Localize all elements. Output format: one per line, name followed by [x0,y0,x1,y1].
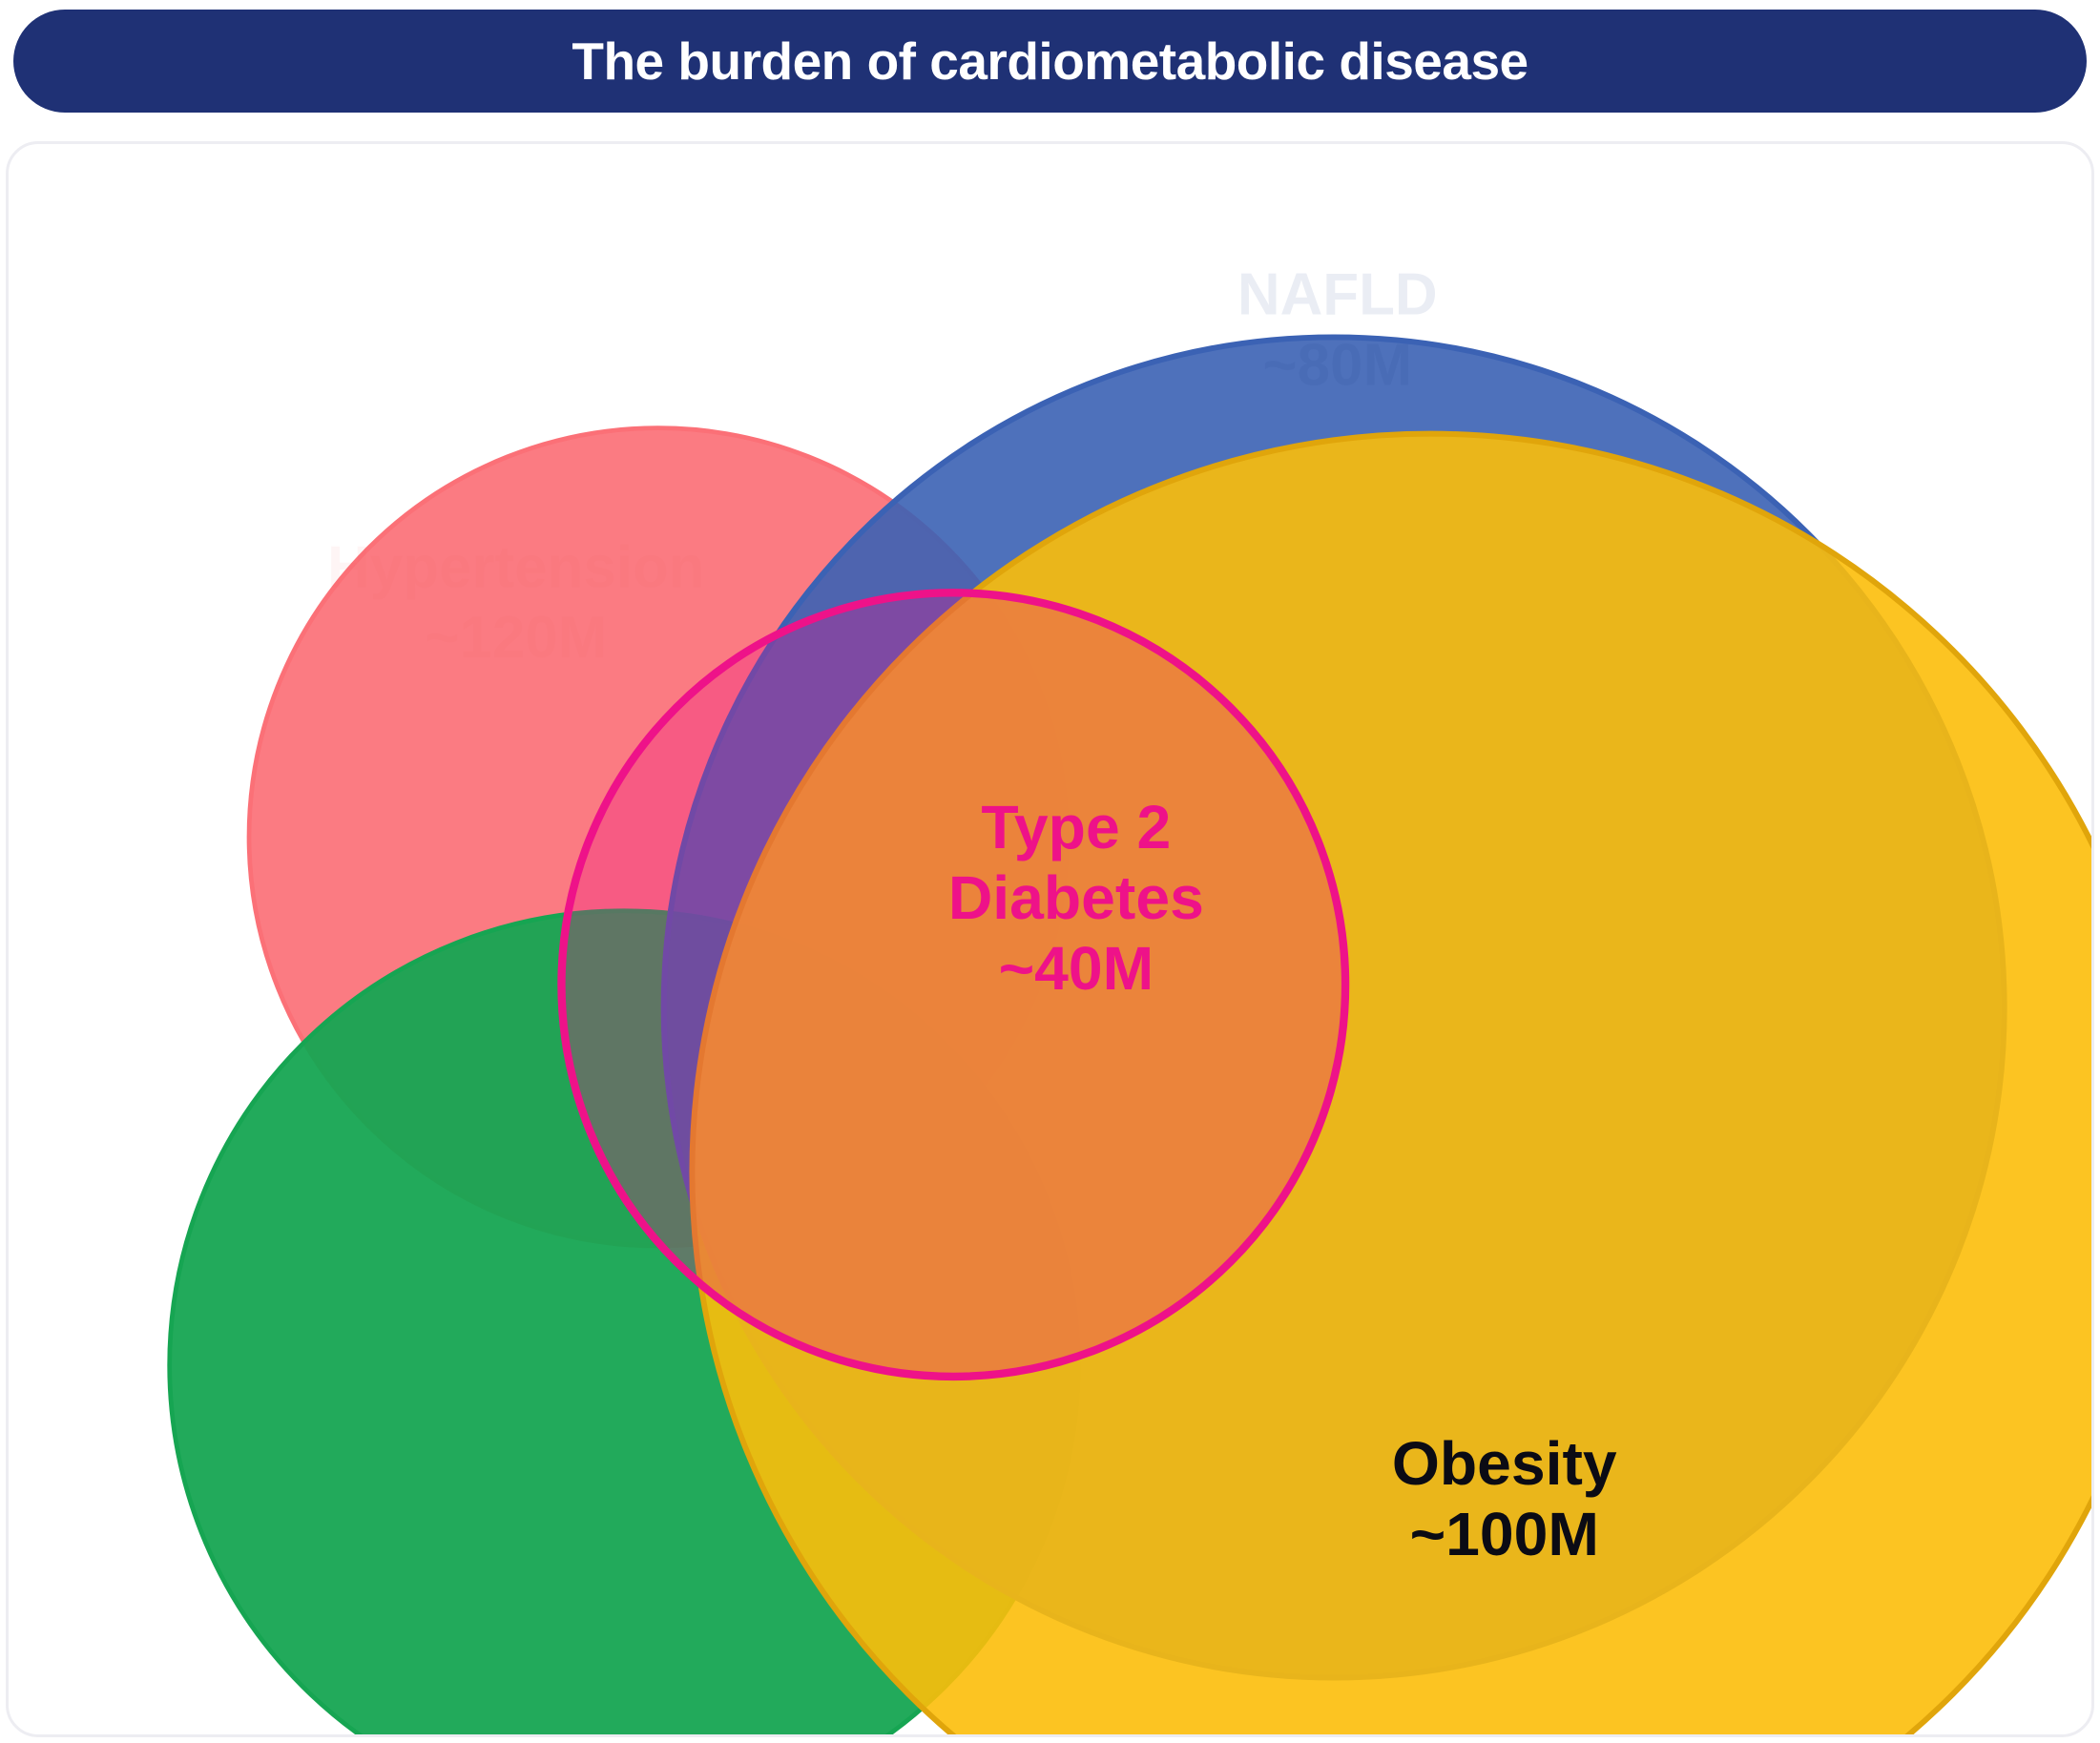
page-title: The burden of cardiometabolic disease [572,35,1528,88]
title-banner: The burden of cardiometabolic disease [13,10,2087,113]
venn-diagram-card: NAFLD ~80M Hypertension ~120M CKD ~37M T… [6,141,2094,1737]
venn-label-nafld-line1: NAFLD [1237,262,1438,328]
venn-circle-type-2-diabetes [561,592,1345,1377]
venn-diagram: NAFLD ~80M Hypertension ~120M CKD ~37M T… [9,144,2091,1734]
infographic-page: The burden of cardiometabolic disease NA… [0,0,2100,1743]
